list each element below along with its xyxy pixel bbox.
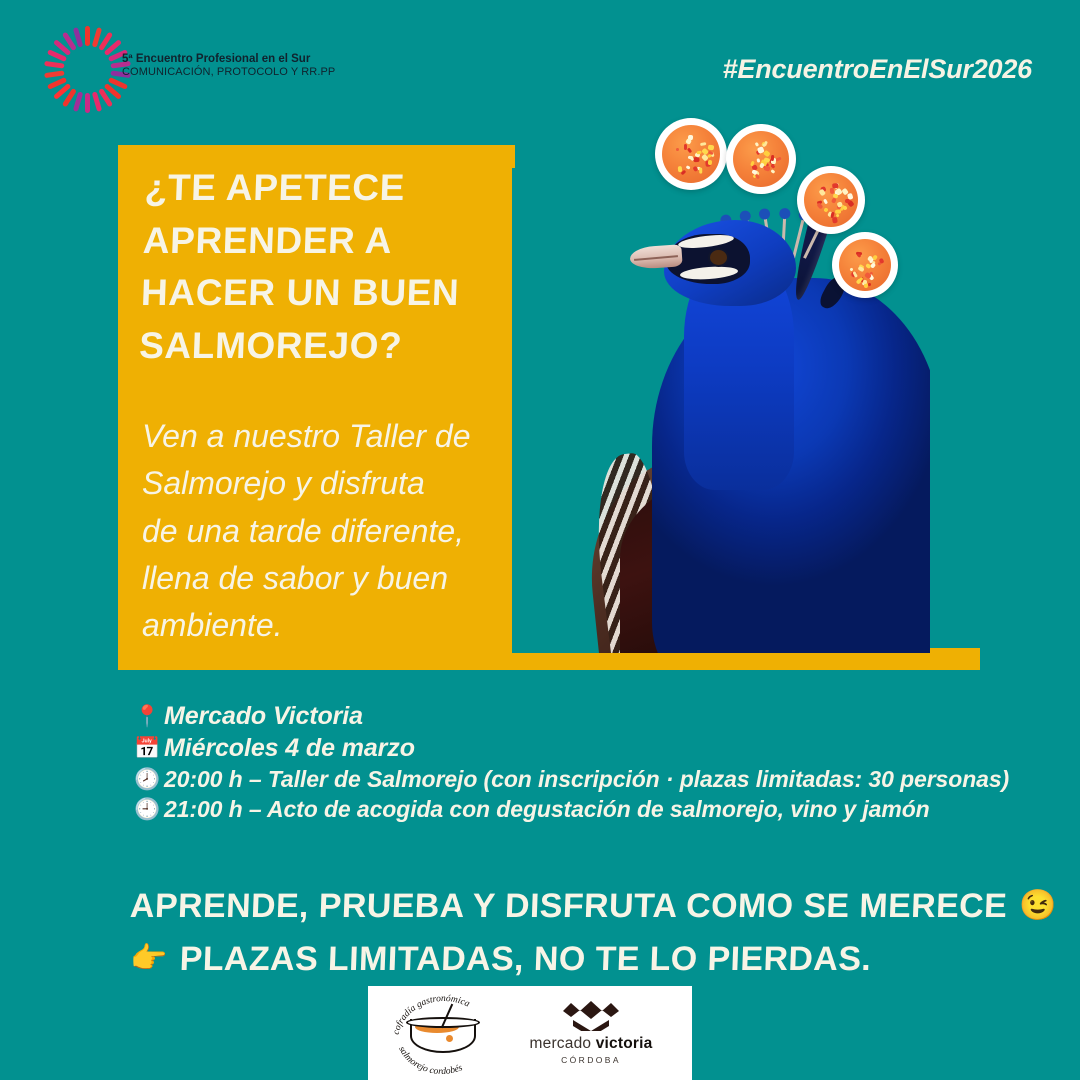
detail-text-2: Miércoles 4 de marzo	[164, 734, 415, 763]
cta-line-2: 👉 PLAZAS LIMITADAS, NO TE LO PIERDAS.	[129, 933, 1031, 986]
cta-line-2-text: PLAZAS LIMITADAS, NO TE LO PIERDAS.	[179, 933, 872, 986]
poster-canvas: 5ª Encuentro Profesional en el Sur COMUN…	[0, 0, 1080, 1080]
chevron-mark-icon	[561, 1001, 621, 1031]
salmorejo-bowl-1	[655, 118, 727, 190]
soup-surface	[733, 131, 789, 187]
detail-text-4: 21:00 h – Acto de acogida con degustació…	[164, 796, 930, 823]
clock-icon: 🕗	[134, 769, 164, 790]
soup-surface	[662, 125, 720, 183]
calendar-icon: 📅	[134, 738, 164, 759]
cta-line-1: APRENDE, PRUEBA Y DISFRUTA COMO SE MEREC…	[129, 880, 1031, 933]
soup-surface	[804, 173, 858, 227]
headline-line-2: APRENDER A	[142, 215, 524, 268]
event-brand-logo: 5ª Encuentro Profesional en el Sur COMUN…	[40, 22, 290, 117]
mv-name-light: mercado	[530, 1035, 596, 1052]
mv-name-bold: victoria	[596, 1035, 653, 1052]
mercado-victoria-logo: mercado victoria CÓRDOBA	[504, 991, 692, 1075]
dashed-circle-icon	[40, 22, 135, 117]
body-line-2: Salmorejo y disfruta	[142, 460, 522, 507]
body-copy-text: Ven a nuestro Taller deSalmorejo y disfr…	[142, 413, 522, 650]
headline-text: ¿TE APETECEAPRENDER AHACER UN BUENSALMOR…	[138, 162, 525, 372]
soup-surface	[839, 239, 891, 291]
event-details-list: 📍Mercado Victoria📅Miércoles 4 de marzo🕗2…	[134, 702, 1064, 826]
body-line-4: llena de sabor y buen	[142, 555, 522, 602]
brand-line-1: 5ª Encuentro Profesional en el Sur	[122, 52, 322, 66]
body-line-3: de una tarde diferente,	[142, 508, 522, 555]
detail-text-3: 20:00 h – Taller de Salmorejo (con inscr…	[164, 766, 1009, 793]
detail-row-2: 📅Miércoles 4 de marzo	[134, 734, 1064, 763]
salmorejo-bowl-2	[726, 124, 796, 194]
location-pin-icon: 📍	[134, 706, 164, 727]
headline-line-4: SALMOREJO?	[138, 320, 520, 373]
salmorejo-bowl-4	[832, 232, 898, 298]
body-line-5: ambiente.	[142, 602, 522, 649]
headline-line-1: ¿TE APETECE	[144, 162, 526, 215]
body-line-1: Ven a nuestro Taller de	[142, 413, 522, 460]
peacock-eye	[708, 248, 729, 267]
detail-text-1: Mercado Victoria	[164, 702, 363, 731]
call-to-action-block: APRENDE, PRUEBA Y DISFRUTA COMO SE MEREC…	[130, 880, 1030, 985]
headline-line-3: HACER UN BUEN	[140, 267, 522, 320]
detail-row-3: 🕗20:00 h – Taller de Salmorejo (con insc…	[134, 766, 1064, 793]
pointing-right-icon: 👉	[130, 936, 168, 983]
footer-logo-panel: cofradía gastronómica salmorejo cordobés…	[368, 986, 692, 1080]
detail-row-4: 🕘21:00 h – Acto de acogida con degustaci…	[134, 796, 1064, 823]
brand-line-2: COMUNICACIÓN, PROTOCOLO Y RR.PP	[122, 66, 322, 80]
cta-line-1-text: APRENDE, PRUEBA Y DISFRUTA COMO SE MEREC…	[129, 880, 1008, 933]
detail-row-1: 📍Mercado Victoria	[134, 702, 1064, 731]
cofradia-gastronomica-logo: cofradía gastronómica salmorejo cordobés	[384, 991, 504, 1075]
event-hashtag: #EncuentroEnElSur2026	[723, 54, 1032, 85]
winking-face-icon: 😉	[1019, 883, 1057, 930]
cofradia-drop	[446, 1035, 453, 1042]
salmorejo-bowl-3	[797, 166, 865, 234]
mercado-victoria-name: mercado victoria	[530, 1036, 653, 1052]
clock-icon: 🕘	[134, 799, 164, 820]
mercado-victoria-subtitle: CÓRDOBA	[561, 1055, 621, 1065]
brand-text-block: 5ª Encuentro Profesional en el Sur COMUN…	[122, 52, 322, 80]
